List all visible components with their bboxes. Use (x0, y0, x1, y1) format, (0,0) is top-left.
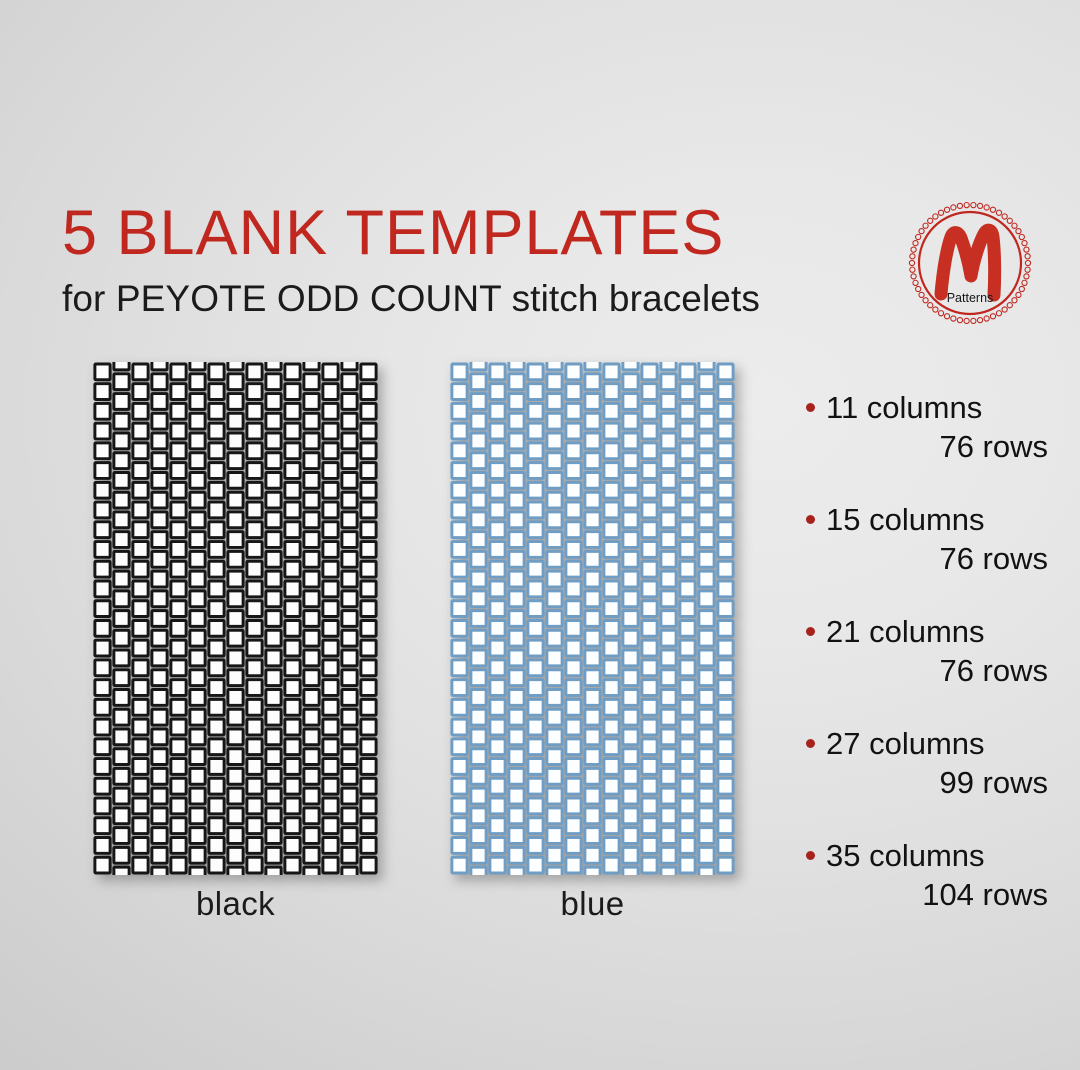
bead-cell[interactable] (452, 482, 467, 498)
bead-cell[interactable] (452, 759, 467, 775)
bead-cell[interactable] (228, 749, 243, 765)
bead-cell[interactable] (547, 492, 562, 508)
bead-cell[interactable] (547, 749, 562, 765)
bead-cell[interactable] (490, 364, 505, 380)
bead-cell[interactable] (133, 601, 148, 617)
bead-cell[interactable] (152, 492, 167, 508)
bead-cell[interactable] (642, 798, 657, 814)
bead-cell[interactable] (642, 838, 657, 854)
bead-cell[interactable] (342, 749, 357, 765)
bead-cell[interactable] (547, 394, 562, 410)
bead-cell[interactable] (528, 443, 543, 459)
bead-cell[interactable] (95, 601, 110, 617)
bead-cell[interactable] (528, 739, 543, 755)
bead-cell[interactable] (190, 551, 205, 567)
bead-cell[interactable] (266, 472, 281, 488)
bead-grid-blue-svg[interactable] (450, 362, 735, 875)
bead-cell[interactable] (304, 749, 319, 765)
bead-cell[interactable] (190, 611, 205, 627)
bead-cell[interactable] (604, 719, 619, 735)
bead-cell[interactable] (661, 591, 676, 607)
bead-cell[interactable] (623, 650, 638, 666)
bead-cell[interactable] (304, 788, 319, 804)
bead-cell[interactable] (490, 660, 505, 676)
bead-cell[interactable] (452, 620, 467, 636)
bead-cell[interactable] (471, 768, 486, 784)
bead-cell[interactable] (471, 394, 486, 410)
bead-cell[interactable] (190, 532, 205, 548)
bead-cell[interactable] (528, 522, 543, 538)
bead-cell[interactable] (452, 561, 467, 577)
bead-cell[interactable] (661, 828, 676, 844)
bead-cell[interactable] (266, 729, 281, 745)
bead-cell[interactable] (642, 640, 657, 656)
bead-cell[interactable] (209, 857, 224, 873)
bead-cell[interactable] (718, 660, 733, 676)
bead-cell[interactable] (95, 502, 110, 518)
bead-cell[interactable] (228, 453, 243, 469)
bead-cell[interactable] (490, 759, 505, 775)
bead-cell[interactable] (95, 719, 110, 735)
bead-cell[interactable] (152, 828, 167, 844)
bead-cell[interactable] (209, 759, 224, 775)
bead-cell[interactable] (509, 611, 524, 627)
bead-cell[interactable] (114, 729, 129, 745)
bead-cell[interactable] (152, 729, 167, 745)
bead-cell[interactable] (642, 403, 657, 419)
bead-cell[interactable] (95, 798, 110, 814)
bead-cell[interactable] (642, 423, 657, 439)
bead-cell[interactable] (152, 362, 167, 370)
bead-cell[interactable] (95, 680, 110, 696)
bead-cell[interactable] (718, 522, 733, 538)
bead-cell[interactable] (642, 699, 657, 715)
bead-cell[interactable] (528, 759, 543, 775)
bead-cell[interactable] (585, 630, 600, 646)
bead-cell[interactable] (471, 532, 486, 548)
bead-cell[interactable] (133, 581, 148, 597)
bead-cell[interactable] (490, 542, 505, 558)
bead-cell[interactable] (699, 591, 714, 607)
bead-cell[interactable] (509, 867, 524, 875)
bead-cell[interactable] (680, 364, 695, 380)
bead-cell[interactable] (661, 867, 676, 875)
bead-cell[interactable] (228, 650, 243, 666)
bead-cell[interactable] (680, 403, 695, 419)
bead-cell[interactable] (190, 394, 205, 410)
bead-cell[interactable] (190, 768, 205, 784)
bead-cell[interactable] (209, 463, 224, 479)
bead-cell[interactable] (585, 847, 600, 863)
bead-cell[interactable] (171, 680, 186, 696)
bead-cell[interactable] (452, 443, 467, 459)
bead-cell[interactable] (247, 838, 262, 854)
bead-cell[interactable] (247, 581, 262, 597)
bead-cell[interactable] (114, 551, 129, 567)
bead-cell[interactable] (209, 680, 224, 696)
bead-cell[interactable] (171, 719, 186, 735)
bead-cell[interactable] (585, 374, 600, 390)
bead-cell[interactable] (133, 403, 148, 419)
bead-cell[interactable] (133, 857, 148, 873)
bead-cell[interactable] (642, 818, 657, 834)
bead-cell[interactable] (566, 542, 581, 558)
bead-cell[interactable] (661, 492, 676, 508)
bead-cell[interactable] (471, 571, 486, 587)
bead-cell[interactable] (623, 768, 638, 784)
bead-cell[interactable] (361, 680, 376, 696)
bead-cell[interactable] (209, 838, 224, 854)
bead-cell[interactable] (452, 838, 467, 854)
bead-cell[interactable] (95, 620, 110, 636)
bead-cell[interactable] (699, 650, 714, 666)
bead-cell[interactable] (699, 670, 714, 686)
bead-cell[interactable] (323, 581, 338, 597)
bead-cell[interactable] (680, 384, 695, 400)
bead-cell[interactable] (361, 759, 376, 775)
bead-cell[interactable] (171, 423, 186, 439)
bead-cell[interactable] (680, 739, 695, 755)
bead-cell[interactable] (718, 542, 733, 558)
bead-cell[interactable] (266, 374, 281, 390)
bead-cell[interactable] (585, 709, 600, 725)
bead-cell[interactable] (661, 362, 676, 370)
bead-cell[interactable] (509, 808, 524, 824)
bead-cell[interactable] (604, 364, 619, 380)
bead-cell[interactable] (323, 739, 338, 755)
bead-cell[interactable] (566, 463, 581, 479)
bead-cell[interactable] (547, 591, 562, 607)
bead-cell[interactable] (171, 463, 186, 479)
bead-cell[interactable] (585, 362, 600, 370)
bead-cell[interactable] (566, 384, 581, 400)
bead-cell[interactable] (528, 463, 543, 479)
bead-cell[interactable] (323, 443, 338, 459)
bead-cell[interactable] (285, 403, 300, 419)
bead-cell[interactable] (699, 551, 714, 567)
bead-cell[interactable] (490, 857, 505, 873)
bead-cell[interactable] (228, 571, 243, 587)
bead-cell[interactable] (699, 453, 714, 469)
bead-cell[interactable] (528, 620, 543, 636)
bead-cell[interactable] (323, 680, 338, 696)
bead-cell[interactable] (209, 522, 224, 538)
bead-cell[interactable] (95, 838, 110, 854)
bead-cell[interactable] (361, 542, 376, 558)
bead-cell[interactable] (661, 650, 676, 666)
bead-cell[interactable] (247, 403, 262, 419)
bead-cell[interactable] (190, 808, 205, 824)
bead-cell[interactable] (566, 423, 581, 439)
bead-cell[interactable] (133, 798, 148, 814)
bead-cell[interactable] (509, 374, 524, 390)
bead-cell[interactable] (95, 581, 110, 597)
bead-cell[interactable] (152, 611, 167, 627)
bead-cell[interactable] (471, 413, 486, 429)
bead-cell[interactable] (285, 719, 300, 735)
bead-cell[interactable] (266, 709, 281, 725)
bead-cell[interactable] (490, 561, 505, 577)
bead-cell[interactable] (661, 571, 676, 587)
bead-cell[interactable] (642, 443, 657, 459)
bead-cell[interactable] (623, 867, 638, 875)
bead-cell[interactable] (342, 362, 357, 370)
bead-cell[interactable] (566, 502, 581, 518)
bead-cell[interactable] (604, 680, 619, 696)
bead-cell[interactable] (471, 512, 486, 528)
bead-cell[interactable] (547, 690, 562, 706)
bead-cell[interactable] (547, 472, 562, 488)
bead-cell[interactable] (623, 532, 638, 548)
bead-cell[interactable] (266, 749, 281, 765)
bead-cell[interactable] (623, 394, 638, 410)
bead-cell[interactable] (604, 759, 619, 775)
bead-cell[interactable] (361, 699, 376, 715)
bead-cell[interactable] (642, 463, 657, 479)
bead-cell[interactable] (528, 581, 543, 597)
bead-cell[interactable] (228, 394, 243, 410)
bead-cell[interactable] (266, 492, 281, 508)
bead-cell[interactable] (209, 699, 224, 715)
bead-cell[interactable] (361, 798, 376, 814)
bead-cell[interactable] (718, 857, 733, 873)
bead-cell[interactable] (304, 394, 319, 410)
bead-cell[interactable] (361, 384, 376, 400)
bead-cell[interactable] (209, 640, 224, 656)
bead-cell[interactable] (304, 650, 319, 666)
bead-cell[interactable] (361, 719, 376, 735)
bead-cell[interactable] (471, 847, 486, 863)
bead-cell[interactable] (661, 749, 676, 765)
bead-cell[interactable] (490, 601, 505, 617)
bead-cell[interactable] (342, 512, 357, 528)
bead-cell[interactable] (490, 482, 505, 498)
bead-cell[interactable] (114, 362, 129, 370)
bead-cell[interactable] (342, 808, 357, 824)
bead-cell[interactable] (699, 768, 714, 784)
bead-cell[interactable] (547, 808, 562, 824)
bead-cell[interactable] (623, 630, 638, 646)
bead-cell[interactable] (114, 867, 129, 875)
bead-cell[interactable] (114, 709, 129, 725)
bead-cell[interactable] (171, 778, 186, 794)
bead-cell[interactable] (247, 482, 262, 498)
bead-cell[interactable] (209, 620, 224, 636)
bead-cell[interactable] (361, 857, 376, 873)
bead-cell[interactable] (190, 828, 205, 844)
bead-cell[interactable] (266, 413, 281, 429)
bead-cell[interactable] (114, 433, 129, 449)
bead-cell[interactable] (566, 857, 581, 873)
bead-cell[interactable] (266, 867, 281, 875)
bead-cell[interactable] (528, 364, 543, 380)
bead-cell[interactable] (114, 472, 129, 488)
bead-cell[interactable] (209, 601, 224, 617)
bead-cell[interactable] (152, 591, 167, 607)
bead-cell[interactable] (699, 512, 714, 528)
bead-cell[interactable] (490, 699, 505, 715)
bead-cell[interactable] (342, 453, 357, 469)
bead-cell[interactable] (680, 818, 695, 834)
bead-cell[interactable] (547, 847, 562, 863)
bead-cell[interactable] (509, 413, 524, 429)
bead-cell[interactable] (452, 502, 467, 518)
bead-cell[interactable] (509, 532, 524, 548)
bead-cell[interactable] (209, 423, 224, 439)
bead-cell[interactable] (114, 591, 129, 607)
bead-cell[interactable] (247, 680, 262, 696)
bead-cell[interactable] (114, 690, 129, 706)
bead-cell[interactable] (266, 512, 281, 528)
bead-cell[interactable] (623, 690, 638, 706)
bead-cell[interactable] (133, 384, 148, 400)
bead-cell[interactable] (642, 620, 657, 636)
bead-cell[interactable] (247, 522, 262, 538)
bead-cell[interactable] (585, 512, 600, 528)
bead-cell[interactable] (266, 630, 281, 646)
bead-cell[interactable] (585, 591, 600, 607)
bead-cell[interactable] (304, 611, 319, 627)
bead-cell[interactable] (323, 542, 338, 558)
bead-cell[interactable] (699, 828, 714, 844)
bead-cell[interactable] (114, 512, 129, 528)
bead-cell[interactable] (114, 453, 129, 469)
bead-cell[interactable] (247, 857, 262, 873)
bead-cell[interactable] (452, 581, 467, 597)
bead-cell[interactable] (471, 808, 486, 824)
bead-cell[interactable] (323, 522, 338, 538)
bead-cell[interactable] (95, 384, 110, 400)
bead-cell[interactable] (114, 413, 129, 429)
bead-cell[interactable] (114, 650, 129, 666)
bead-cell[interactable] (95, 640, 110, 656)
bead-cell[interactable] (604, 384, 619, 400)
bead-cell[interactable] (585, 532, 600, 548)
bead-cell[interactable] (528, 601, 543, 617)
bead-cell[interactable] (323, 502, 338, 518)
bead-cell[interactable] (661, 808, 676, 824)
bead-cell[interactable] (247, 759, 262, 775)
bead-cell[interactable] (509, 847, 524, 863)
bead-cell[interactable] (209, 364, 224, 380)
bead-cell[interactable] (547, 788, 562, 804)
bead-cell[interactable] (509, 551, 524, 567)
bead-cell[interactable] (661, 630, 676, 646)
bead-cell[interactable] (699, 394, 714, 410)
bead-cell[interactable] (547, 433, 562, 449)
bead-cell[interactable] (190, 472, 205, 488)
bead-cell[interactable] (266, 828, 281, 844)
bead-cell[interactable] (266, 551, 281, 567)
bead-cell[interactable] (718, 423, 733, 439)
bead-cell[interactable] (604, 838, 619, 854)
bead-cell[interactable] (680, 759, 695, 775)
bead-cell[interactable] (171, 443, 186, 459)
bead-cell[interactable] (133, 719, 148, 735)
bead-cell[interactable] (604, 660, 619, 676)
template-chart-blue[interactable]: blue (450, 362, 735, 875)
bead-cell[interactable] (566, 838, 581, 854)
bead-cell[interactable] (490, 423, 505, 439)
bead-cell[interactable] (699, 611, 714, 627)
bead-cell[interactable] (361, 423, 376, 439)
bead-cell[interactable] (190, 591, 205, 607)
bead-cell[interactable] (642, 719, 657, 735)
bead-cell[interactable] (547, 453, 562, 469)
bead-cell[interactable] (152, 808, 167, 824)
bead-cell[interactable] (661, 611, 676, 627)
bead-cell[interactable] (171, 482, 186, 498)
bead-cell[interactable] (471, 828, 486, 844)
bead-cell[interactable] (661, 670, 676, 686)
bead-cell[interactable] (323, 482, 338, 498)
bead-cell[interactable] (323, 838, 338, 854)
bead-cell[interactable] (490, 778, 505, 794)
bead-cell[interactable] (528, 502, 543, 518)
bead-cell[interactable] (547, 362, 562, 370)
bead-cell[interactable] (228, 362, 243, 370)
bead-cell[interactable] (623, 512, 638, 528)
bead-cell[interactable] (452, 699, 467, 715)
bead-cell[interactable] (152, 453, 167, 469)
bead-cell[interactable] (323, 719, 338, 735)
bead-cell[interactable] (361, 502, 376, 518)
bead-cell[interactable] (585, 433, 600, 449)
bead-cell[interactable] (604, 857, 619, 873)
bead-cell[interactable] (342, 788, 357, 804)
bead-cell[interactable] (247, 443, 262, 459)
bead-cell[interactable] (509, 709, 524, 725)
bead-cell[interactable] (114, 808, 129, 824)
bead-cell[interactable] (114, 749, 129, 765)
bead-cell[interactable] (490, 719, 505, 735)
bead-cell[interactable] (190, 867, 205, 875)
bead-cell[interactable] (266, 670, 281, 686)
bead-cell[interactable] (95, 364, 110, 380)
bead-cell[interactable] (585, 453, 600, 469)
bead-cell[interactable] (452, 522, 467, 538)
bead-cell[interactable] (585, 749, 600, 765)
bead-cell[interactable] (228, 433, 243, 449)
bead-cell[interactable] (509, 788, 524, 804)
bead-cell[interactable] (718, 482, 733, 498)
bead-cell[interactable] (190, 670, 205, 686)
bead-cell[interactable] (699, 433, 714, 449)
bead-cell[interactable] (471, 472, 486, 488)
bead-cell[interactable] (642, 759, 657, 775)
bead-cell[interactable] (471, 362, 486, 370)
bead-cell[interactable] (266, 611, 281, 627)
bead-cell[interactable] (509, 472, 524, 488)
bead-cell[interactable] (133, 502, 148, 518)
bead-cell[interactable] (342, 394, 357, 410)
bead-cell[interactable] (547, 374, 562, 390)
bead-cell[interactable] (190, 847, 205, 863)
bead-cell[interactable] (528, 403, 543, 419)
bead-cell[interactable] (680, 857, 695, 873)
bead-cell[interactable] (266, 690, 281, 706)
bead-cell[interactable] (585, 492, 600, 508)
bead-cell[interactable] (247, 699, 262, 715)
bead-cell[interactable] (247, 542, 262, 558)
bead-cell[interactable] (718, 384, 733, 400)
bead-cell[interactable] (285, 423, 300, 439)
bead-cell[interactable] (342, 492, 357, 508)
bead-cell[interactable] (228, 788, 243, 804)
bead-cell[interactable] (152, 670, 167, 686)
bead-cell[interactable] (528, 561, 543, 577)
bead-cell[interactable] (95, 699, 110, 715)
